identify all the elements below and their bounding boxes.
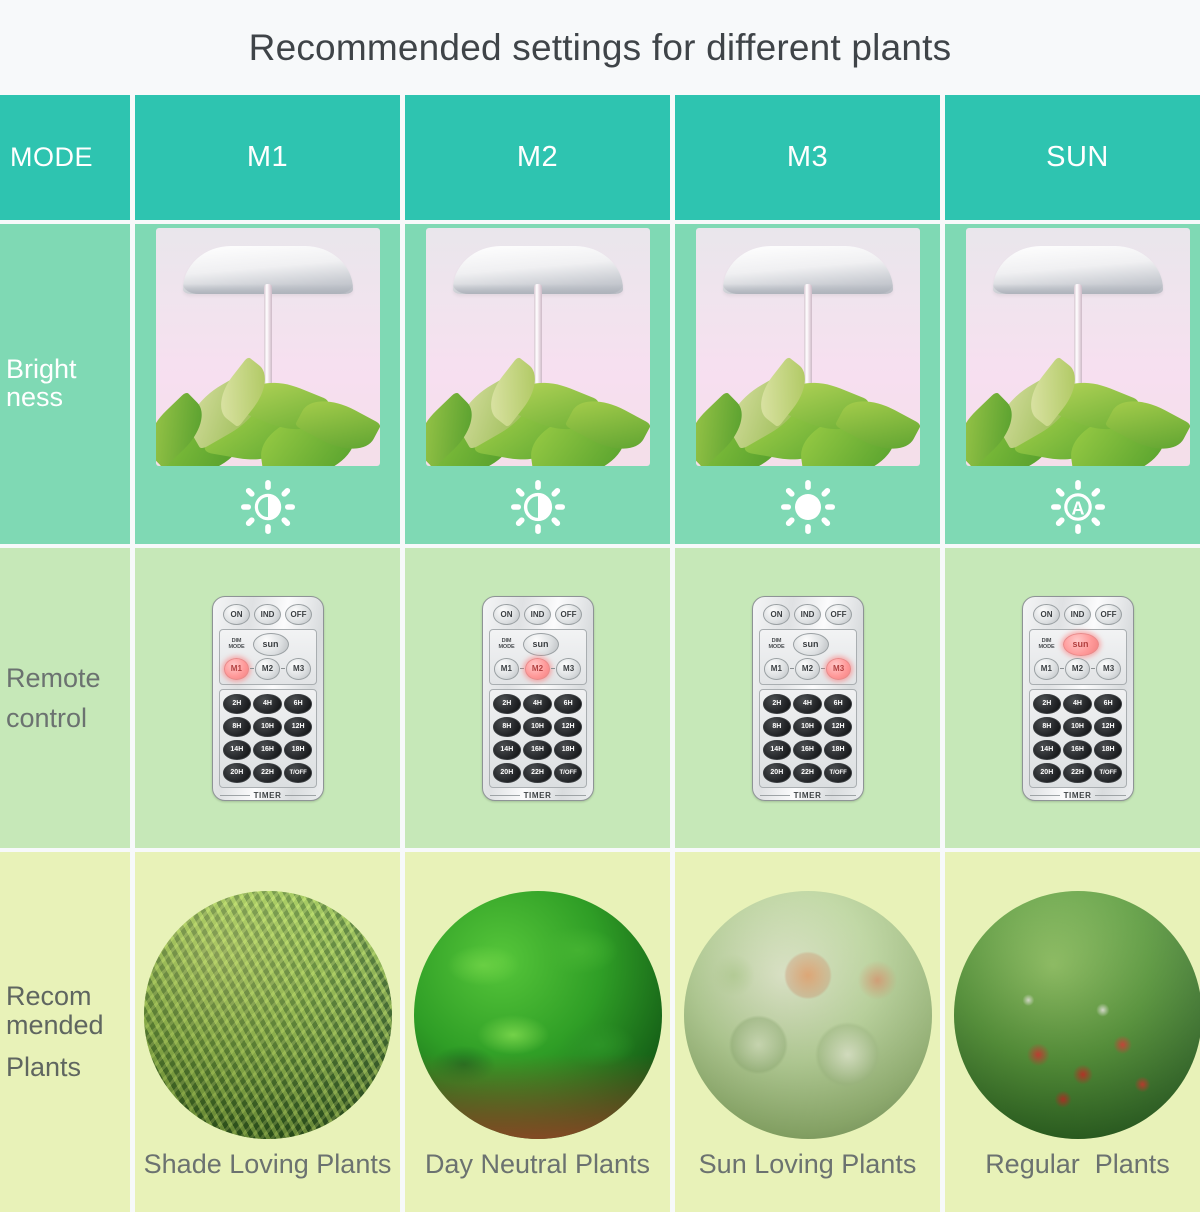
remote-sun-button[interactable]: sun	[1063, 633, 1099, 656]
dim-mode-label: DIMMODE	[494, 638, 520, 650]
plant-foliage	[426, 360, 650, 466]
plants-cell-m1: Shade Loving Plants	[135, 852, 400, 1212]
timer-off-button[interactable]: T/OFF	[1094, 763, 1123, 783]
column-header-m2: M2	[405, 95, 670, 220]
timer-button[interactable]: 14H	[223, 740, 252, 760]
plant-caption: Day Neutral Plants	[425, 1149, 650, 1180]
remote-m2-button[interactable]: M2	[795, 658, 821, 680]
plant-caption: Sun Loving Plants	[699, 1149, 917, 1180]
timer-label: TIMER	[794, 791, 822, 800]
timer-button[interactable]: 8H	[763, 717, 792, 737]
strawberry-plant-photo	[954, 891, 1200, 1139]
timer-button[interactable]: 12H	[824, 717, 853, 737]
timer-button[interactable]: 16H	[253, 740, 282, 760]
column-header-label: SUN	[1046, 141, 1109, 174]
column-header-m1: M1	[135, 95, 400, 220]
remote-off-button[interactable]: OFF	[285, 604, 312, 625]
timer-button[interactable]: 2H	[223, 694, 252, 714]
brightness-cell-m1	[135, 224, 400, 544]
plants-cell-sun: Regular Plants	[945, 852, 1200, 1212]
timer-button[interactable]: 16H	[1063, 740, 1092, 760]
remote-on-button[interactable]: ON	[493, 604, 520, 625]
fern-photo	[144, 891, 392, 1139]
remote-cell-m2: ON IND OFF DIMMODE sun M1 M2	[405, 548, 670, 848]
infographic-page: Recommended settings for different plant…	[0, 0, 1200, 1200]
remote-m3-button[interactable]: M3	[556, 658, 582, 680]
remote-m2-button[interactable]: M2	[255, 658, 281, 680]
timer-label: TIMER	[254, 791, 282, 800]
timer-off-button[interactable]: T/OFF	[554, 763, 583, 783]
timer-button[interactable]: 14H	[763, 740, 792, 760]
timer-button[interactable]: 4H	[523, 694, 552, 714]
timer-keypad: 2H 4H 6H 8H 10H 12H 14H 16H 18H 20H 22H …	[1029, 689, 1127, 788]
brightness-cell-m2	[405, 224, 670, 544]
remote-on-button[interactable]: ON	[1033, 604, 1060, 625]
dim-mode-label: DIMMODE	[1034, 638, 1060, 650]
remote-off-button[interactable]: OFF	[555, 604, 582, 625]
mode-header-label: MODE	[10, 142, 93, 173]
remote-m3-button[interactable]: M3	[286, 658, 312, 680]
grow-light-photo	[966, 228, 1190, 466]
remote-on-button[interactable]: ON	[223, 604, 250, 625]
timer-button[interactable]: 12H	[554, 717, 583, 737]
remote-cell-m1: ON IND OFF DIMMODE sun M1 M2	[135, 548, 400, 848]
timer-button[interactable]: 18H	[1094, 740, 1123, 760]
remote-cell-sun: ON IND OFF DIMMODE sun M1 M2	[945, 548, 1200, 848]
row-header-label: Remotecontrol	[6, 658, 101, 739]
remote-control[interactable]: ON IND OFF DIMMODE sun M1 M2	[212, 596, 324, 801]
timer-button[interactable]: 6H	[824, 694, 853, 714]
timer-button[interactable]: 4H	[253, 694, 282, 714]
brightness-auto-icon: A	[1049, 478, 1107, 541]
timer-button[interactable]: 18H	[824, 740, 853, 760]
timer-button[interactable]: 18H	[284, 740, 313, 760]
timer-button[interactable]: 18H	[554, 740, 583, 760]
timer-button[interactable]: 16H	[523, 740, 552, 760]
timer-label: TIMER	[524, 791, 552, 800]
grow-light-photo	[156, 228, 380, 466]
brightness-quarter-icon	[239, 478, 297, 541]
dim-mode-label: DIMMODE	[224, 638, 250, 650]
remote-m2-button[interactable]: M2	[1065, 658, 1091, 680]
plant-foliage	[156, 360, 380, 466]
timer-keypad: 2H 4H 6H 8H 10H 12H 14H 16H 18H 20H 22H …	[759, 689, 857, 788]
timer-button[interactable]: 8H	[493, 717, 522, 737]
succulent-photo	[684, 891, 932, 1139]
timer-button[interactable]: 6H	[284, 694, 313, 714]
timer-button[interactable]: 10H	[253, 717, 282, 737]
brightness-cell-m3	[675, 224, 940, 544]
timer-button[interactable]: 22H	[253, 763, 282, 783]
plants-cell-m2: Day Neutral Plants	[405, 852, 670, 1212]
timer-button[interactable]: 14H	[1033, 740, 1062, 760]
page-title: Recommended settings for different plant…	[0, 0, 1200, 95]
column-header-label: M1	[247, 141, 288, 174]
column-header-sun: SUN	[945, 95, 1200, 220]
remote-cell-m3: ON IND OFF DIMMODE sun M1 M2	[675, 548, 940, 848]
timer-button[interactable]: 16H	[793, 740, 822, 760]
column-header-label: M2	[517, 141, 558, 174]
timer-button[interactable]: 10H	[1063, 717, 1092, 737]
remote-control[interactable]: ON IND OFF DIMMODE sun M1 M2	[752, 596, 864, 801]
timer-off-button[interactable]: T/OFF	[824, 763, 853, 783]
plants-cell-m3: Sun Loving Plants	[675, 852, 940, 1212]
column-header-m3: M3	[675, 95, 940, 220]
remote-m2-button[interactable]: M2	[525, 658, 551, 680]
auto-letter: A	[1071, 498, 1084, 518]
timer-off-button[interactable]: T/OFF	[284, 763, 313, 783]
plant-foliage	[696, 360, 920, 466]
row-header-label: RecommendedPlants	[6, 982, 104, 1081]
timer-button[interactable]: 6H	[1094, 694, 1123, 714]
table-corner-header: MODE	[0, 95, 130, 220]
row-header-recommended-plants: RecommendedPlants	[0, 852, 130, 1212]
grow-light-photo	[426, 228, 650, 466]
row-header-label: Brightness	[6, 356, 77, 411]
leafy-green-plant-photo	[414, 891, 662, 1139]
remote-on-button[interactable]: ON	[763, 604, 790, 625]
timer-button[interactable]: 14H	[493, 740, 522, 760]
timer-button[interactable]: 6H	[554, 694, 583, 714]
timer-button[interactable]: 12H	[1094, 717, 1123, 737]
plant-caption: Shade Loving Plants	[144, 1149, 392, 1180]
remote-ind-button[interactable]: IND	[524, 604, 551, 625]
dim-mode-panel: DIMMODE sun M1 M2 M3	[219, 629, 317, 685]
remote-m3-button[interactable]: M3	[826, 658, 852, 680]
dim-mode-panel: DIMMODE sun M1 M2 M3	[759, 629, 857, 685]
column-header-label: M3	[787, 141, 828, 174]
row-header-brightness: Brightness	[0, 224, 130, 544]
plant-foliage	[966, 360, 1190, 466]
timer-button[interactable]: 22H	[523, 763, 552, 783]
timer-button[interactable]: 12H	[284, 717, 313, 737]
timer-button[interactable]: 4H	[1063, 694, 1092, 714]
remote-sun-button[interactable]: sun	[793, 633, 829, 656]
remote-sun-button[interactable]: sun	[253, 633, 289, 656]
remote-control[interactable]: ON IND OFF DIMMODE sun M1 M2	[1022, 596, 1134, 801]
dim-mode-panel: DIMMODE sun M1 M2 M3	[489, 629, 587, 685]
remote-ind-button[interactable]: IND	[254, 604, 281, 625]
timer-button[interactable]: 10H	[523, 717, 552, 737]
remote-m3-button[interactable]: M3	[1096, 658, 1122, 680]
remote-m1-button[interactable]: M1	[494, 658, 520, 680]
timer-button[interactable]: 22H	[1063, 763, 1092, 783]
remote-sun-button[interactable]: sun	[523, 633, 559, 656]
settings-table: MODE M1 M2 M3 SUN Brightness	[0, 95, 1200, 1212]
timer-button[interactable]: 2H	[1033, 694, 1062, 714]
timer-button[interactable]: 10H	[793, 717, 822, 737]
timer-keypad: 2H 4H 6H 8H 10H 12H 14H 16H 18H 20H 22H …	[489, 689, 587, 788]
grow-light-photo	[696, 228, 920, 466]
timer-label: TIMER	[1064, 791, 1092, 800]
brightness-half-icon	[509, 478, 567, 541]
timer-button[interactable]: 20H	[1033, 763, 1062, 783]
remote-ind-button[interactable]: IND	[1064, 604, 1091, 625]
dim-mode-label: DIMMODE	[764, 638, 790, 650]
timer-button[interactable]: 4H	[793, 694, 822, 714]
remote-m1-button[interactable]: M1	[764, 658, 790, 680]
timer-button[interactable]: 2H	[493, 694, 522, 714]
remote-m1-button[interactable]: M1	[224, 658, 250, 680]
remote-m1-button[interactable]: M1	[1034, 658, 1060, 680]
timer-button[interactable]: 20H	[763, 763, 792, 783]
timer-button[interactable]: 20H	[493, 763, 522, 783]
remote-ind-button[interactable]: IND	[794, 604, 821, 625]
timer-button[interactable]: 20H	[223, 763, 252, 783]
dim-mode-panel: DIMMODE sun M1 M2 M3	[1029, 629, 1127, 685]
row-header-remote-control: Remotecontrol	[0, 548, 130, 848]
brightness-cell-sun: A	[945, 224, 1200, 544]
remote-off-button[interactable]: OFF	[825, 604, 852, 625]
timer-button[interactable]: 8H	[223, 717, 252, 737]
remote-control[interactable]: ON IND OFF DIMMODE sun M1 M2	[482, 596, 594, 801]
timer-button[interactable]: 22H	[793, 763, 822, 783]
remote-off-button[interactable]: OFF	[1095, 604, 1122, 625]
timer-button[interactable]: 8H	[1033, 717, 1062, 737]
brightness-full-icon	[779, 478, 837, 541]
timer-keypad: 2H 4H 6H 8H 10H 12H 14H 16H 18H 20H 22H …	[219, 689, 317, 788]
plant-caption: Regular Plants	[985, 1149, 1170, 1180]
timer-button[interactable]: 2H	[763, 694, 792, 714]
